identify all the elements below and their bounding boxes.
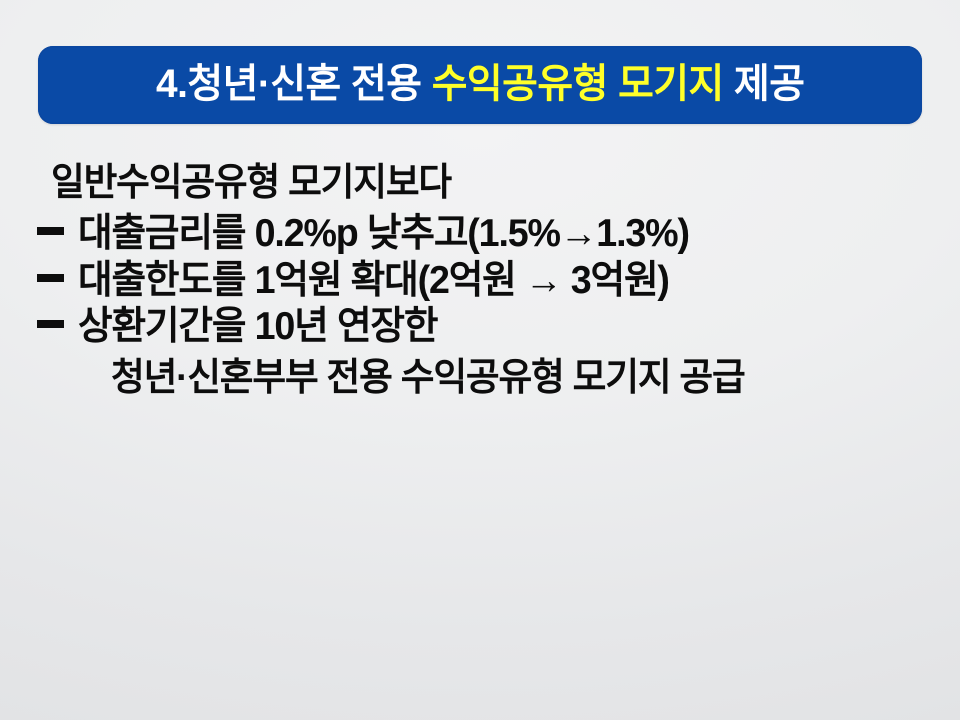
body-heading: 일반수익공유형 모기지보다 [0, 164, 960, 203]
body-continuation: 청년·신혼부부 전용 수익공유형 모기지 공급 [0, 359, 960, 398]
title-segment-plain-2: 제공 [723, 62, 804, 106]
bullet-item-3-text: 상환기간을 10년 연장한 [78, 307, 437, 347]
dash-bullet-icon [37, 274, 64, 282]
body-content: 일반수익공유형 모기지보다 대출금리를 0.2%p 낮추고(1.5%→1.3%)… [0, 164, 960, 398]
slide-canvas: 4.청년·신혼 전용 수익공유형 모기지 제공 일반수익공유형 모기지보다 대출… [0, 0, 960, 720]
dash-bullet-icon [37, 227, 64, 235]
bullet-item-1-text: 대출금리를 0.2%p 낮추고(1.5%→1.3%) [78, 214, 689, 254]
title-segment-highlight: 수익공유형 모기지 [431, 62, 723, 106]
body-heading-text: 일반수익공유형 모기지보다 [51, 164, 451, 203]
dash-bullet-icon [37, 320, 64, 328]
bullet-item-1: 대출금리를 0.2%p 낮추고(1.5%→1.3%) [0, 214, 960, 254]
title-segment-plain-1: 4.청년·신혼 전용 [156, 62, 432, 106]
bullet-item-3: 상환기간을 10년 연장한 [0, 307, 960, 347]
title-banner: 4.청년·신혼 전용 수익공유형 모기지 제공 [38, 46, 922, 124]
body-continuation-text: 청년·신혼부부 전용 수익공유형 모기지 공급 [111, 359, 745, 398]
page-title: 4.청년·신혼 전용 수익공유형 모기지 제공 [156, 64, 804, 106]
bullet-item-2-text: 대출한도를 1억원 확대(2억원 → 3억원) [78, 261, 669, 301]
bullet-item-2: 대출한도를 1억원 확대(2억원 → 3억원) [0, 261, 960, 301]
